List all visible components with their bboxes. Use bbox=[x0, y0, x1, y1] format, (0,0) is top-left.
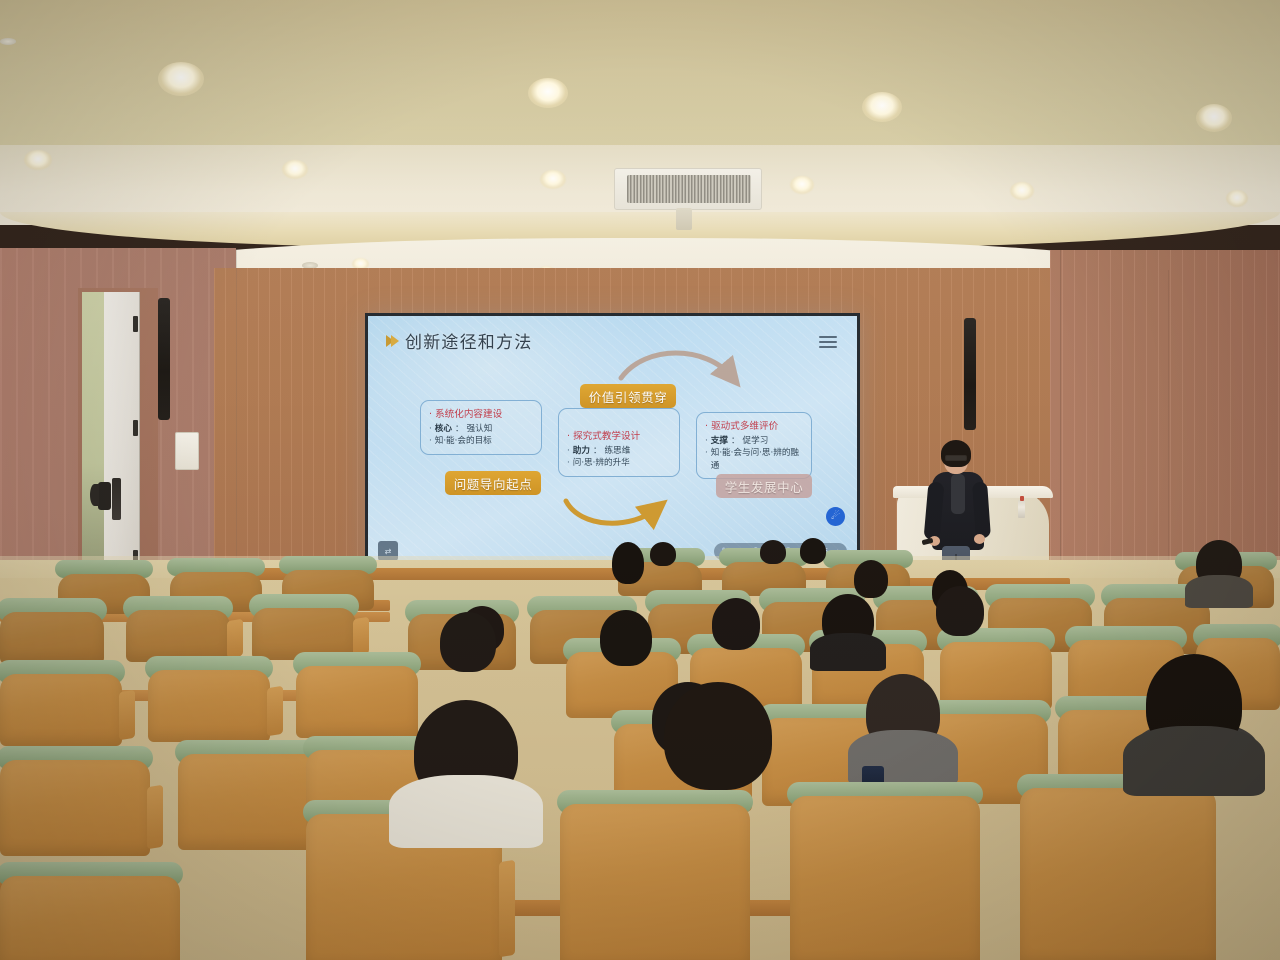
wps-logo-icon: ☄ bbox=[826, 507, 845, 526]
seat[interactable] bbox=[252, 594, 356, 660]
person-shoulders bbox=[1185, 575, 1253, 609]
audience-person bbox=[440, 612, 496, 672]
seat[interactable] bbox=[0, 746, 150, 856]
seat[interactable] bbox=[0, 862, 180, 960]
person-shoulders bbox=[810, 633, 887, 671]
person-head bbox=[760, 540, 786, 564]
slide-box-evaluation: ·驱动式多维评价 ·支撑：促学习 ·知·能·会与问·思·辨的融通 bbox=[696, 412, 812, 479]
downlight-icon bbox=[282, 160, 308, 179]
audience-person bbox=[822, 594, 874, 648]
downlight-icon bbox=[24, 150, 52, 170]
box-heading: ·探究式教学设计 bbox=[567, 430, 672, 444]
slide-box-teaching-design: ·探究式教学设计 ·助力：练思维 ·问·思·辨的升华 bbox=[558, 408, 680, 477]
glasses-icon bbox=[945, 455, 967, 461]
box-heading: ·驱动式多维评价 bbox=[705, 420, 804, 434]
seat[interactable] bbox=[940, 628, 1052, 710]
slide-header: 创新途径和方法 bbox=[386, 328, 532, 353]
audience-person bbox=[1196, 540, 1242, 588]
box-item: ·核心：强认知 bbox=[429, 423, 534, 435]
downlight-icon bbox=[1226, 190, 1248, 207]
downlight-icon bbox=[528, 78, 568, 108]
audience-person bbox=[600, 610, 652, 666]
person-head bbox=[612, 542, 644, 584]
downlight-icon bbox=[862, 92, 902, 122]
audience-person bbox=[712, 598, 760, 650]
box-item: ·知·能·会与问·思·辨的融通 bbox=[705, 447, 804, 472]
seat[interactable] bbox=[148, 656, 270, 742]
box-item: ·支撑：促学习 bbox=[705, 435, 804, 447]
audience-person bbox=[936, 586, 984, 636]
person-head bbox=[440, 612, 496, 672]
person-shoulders bbox=[1123, 726, 1265, 796]
audience-person bbox=[1146, 654, 1242, 754]
audience-person bbox=[612, 542, 644, 584]
audience-person bbox=[854, 560, 888, 598]
seat[interactable] bbox=[790, 782, 980, 960]
column-speaker-left bbox=[158, 298, 170, 420]
slide-title: 创新途径和方法 bbox=[405, 328, 532, 353]
door-hinge-icon bbox=[133, 316, 138, 332]
ceiling-ac-unit bbox=[614, 168, 762, 210]
person-head bbox=[650, 542, 676, 566]
wall-control-panel[interactable] bbox=[175, 432, 199, 470]
door-hinge-icon bbox=[133, 420, 138, 436]
column-speaker-right bbox=[964, 318, 976, 430]
downlight-icon bbox=[1196, 104, 1232, 132]
audience-person-with-phone bbox=[866, 674, 940, 752]
seat[interactable] bbox=[0, 660, 122, 746]
seat[interactable] bbox=[1020, 774, 1216, 960]
downlight-icon bbox=[158, 62, 204, 96]
badge-student-center: 学生发展中心 bbox=[716, 474, 812, 498]
badge-problem-oriented: 问题导向起点 bbox=[445, 471, 541, 495]
box-item: ·知·能·会的目标 bbox=[429, 435, 534, 447]
person-head bbox=[854, 560, 888, 598]
downlight-icon bbox=[1010, 182, 1034, 200]
person-head bbox=[800, 538, 826, 564]
projection-screen-frame: 创新途径和方法 bbox=[365, 313, 860, 571]
presenter-hand-right bbox=[974, 534, 985, 544]
lecture-hall-photo: 创新途径和方法 bbox=[0, 0, 1280, 960]
hamburger-menu-icon[interactable] bbox=[819, 336, 837, 348]
double-chevron-right-icon bbox=[386, 335, 396, 347]
seat[interactable] bbox=[296, 652, 418, 738]
box-item: ·助力：练思维 bbox=[567, 445, 672, 457]
presenter-inner-top bbox=[951, 474, 965, 514]
ac-grille bbox=[627, 175, 751, 203]
person-head bbox=[664, 682, 772, 790]
downlight-icon bbox=[790, 176, 814, 194]
audience-person bbox=[760, 540, 786, 564]
person-shoulders bbox=[389, 775, 543, 848]
audience-person bbox=[650, 542, 676, 566]
water-bottle bbox=[1018, 500, 1025, 518]
seat[interactable] bbox=[560, 790, 750, 960]
door-lock-icon[interactable] bbox=[112, 478, 121, 520]
audience-person bbox=[800, 538, 826, 564]
audience-person bbox=[664, 682, 772, 790]
person-head bbox=[936, 586, 984, 636]
downlight-icon bbox=[540, 170, 566, 189]
seat[interactable] bbox=[126, 596, 230, 662]
badge-value-leading: 价值引领贯穿 bbox=[580, 384, 676, 408]
box-item: ·问·思·辨的升华 bbox=[567, 457, 672, 469]
projected-slide: 创新途径和方法 bbox=[368, 316, 857, 568]
presenter-arm-right bbox=[972, 482, 991, 539]
door-handle-icon[interactable] bbox=[98, 482, 111, 510]
slide-box-content-building: ·系统化内容建设 ·核心：强认知 ·知·能·会的目标 bbox=[420, 400, 542, 455]
seat[interactable] bbox=[0, 598, 104, 664]
ac-stem bbox=[676, 208, 692, 230]
smoke-detector-icon bbox=[0, 38, 16, 45]
person-head bbox=[600, 610, 652, 666]
person-head bbox=[712, 598, 760, 650]
presenter-hair bbox=[941, 440, 971, 467]
box-heading: ·系统化内容建设 bbox=[429, 408, 534, 422]
audience-person bbox=[414, 700, 518, 804]
